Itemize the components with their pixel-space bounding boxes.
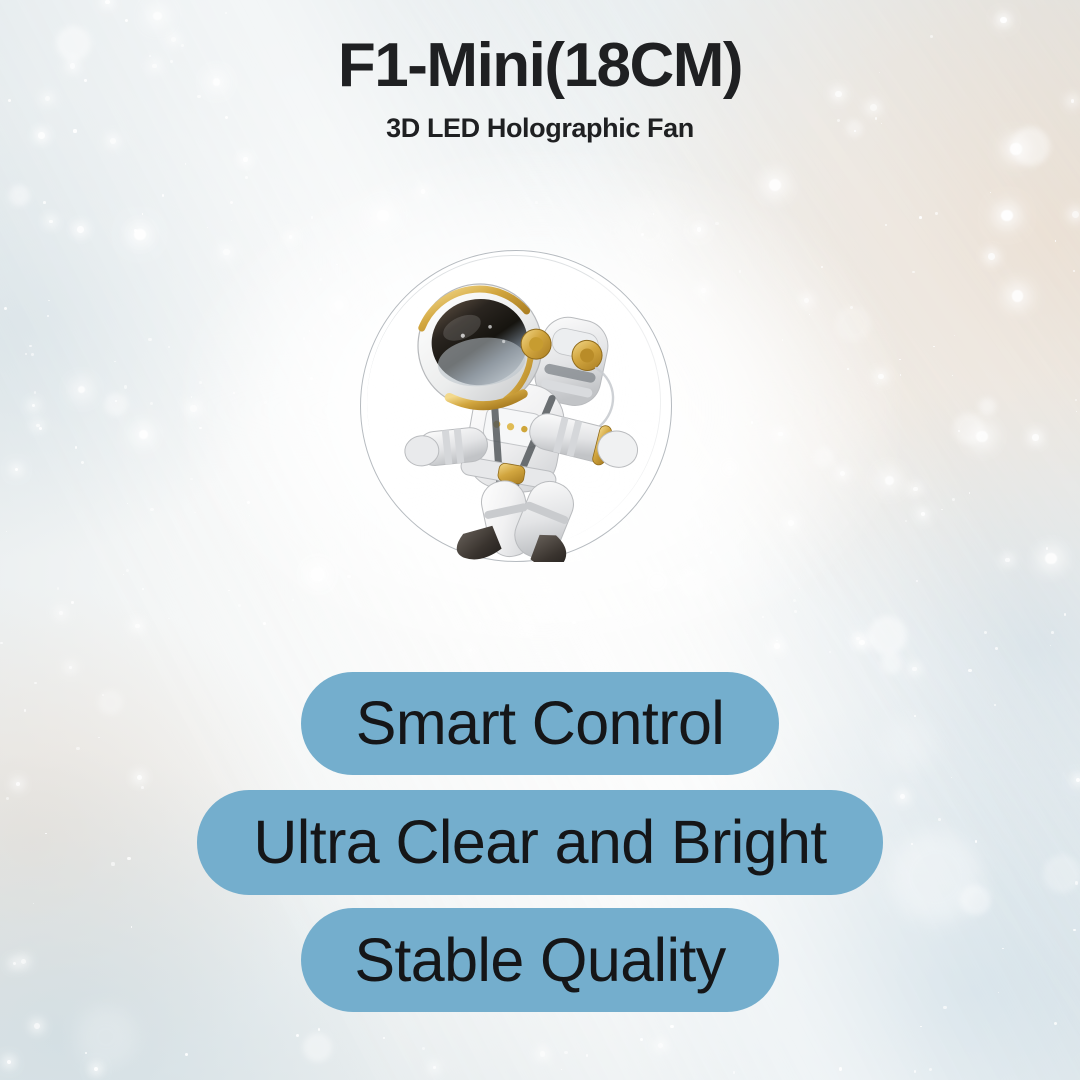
holographic-display — [360, 250, 672, 562]
feature-pill-ultra-clear-and-bright[interactable]: Ultra Clear and Bright — [197, 790, 883, 895]
page-subtitle: 3D LED Holographic Fan — [0, 113, 1080, 144]
feature-list: Smart Control Ultra Clear and Bright Sta… — [0, 672, 1080, 1012]
feature-row-0: Smart Control — [0, 672, 1080, 775]
astronaut-hologram — [360, 250, 672, 562]
feature-row-1: Ultra Clear and Bright — [0, 775, 1080, 895]
feature-pill-stable-quality[interactable]: Stable Quality — [301, 908, 779, 1012]
feature-row-2: Stable Quality — [0, 895, 1080, 1012]
header: F1-Mini(18CM) 3D LED Holographic Fan — [0, 34, 1080, 144]
product-banner: F1-Mini(18CM) 3D LED Holographic Fan — [0, 0, 1080, 1080]
page-title: F1-Mini(18CM) — [0, 34, 1080, 97]
feature-pill-smart-control[interactable]: Smart Control — [301, 672, 779, 775]
